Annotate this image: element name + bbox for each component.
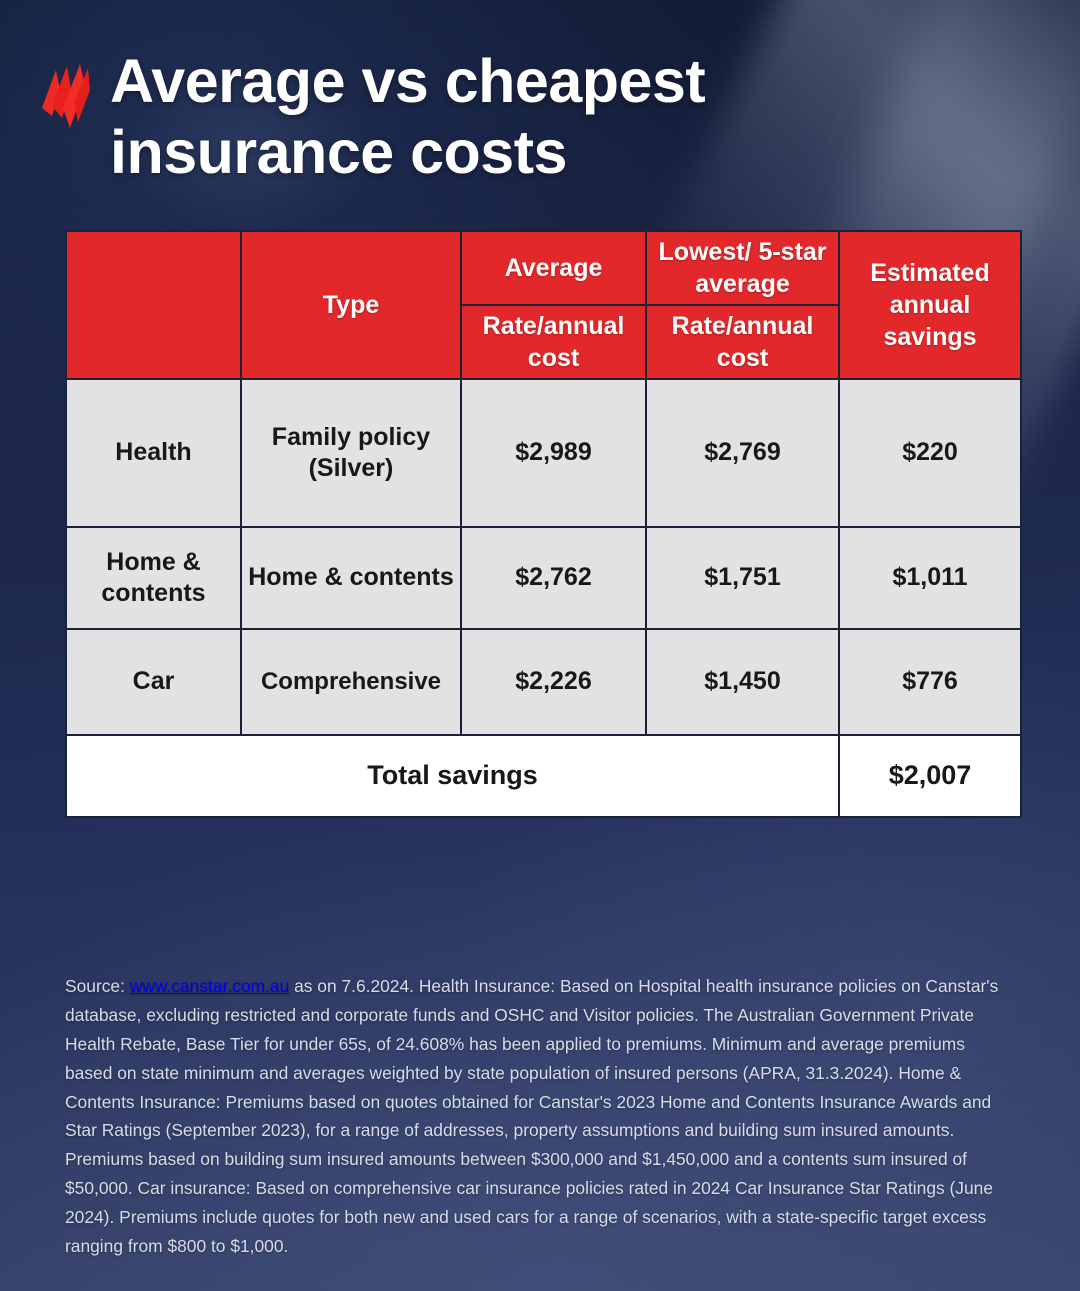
cell-savings: $220	[839, 379, 1021, 527]
header-rate-annual-cost-lowest: Rate/annual cost	[646, 305, 839, 379]
cell-savings: $1,011	[839, 527, 1021, 629]
table-row: Health Family policy (Silver) $2,989 $2,…	[66, 379, 1021, 527]
cell-type: Home & contents	[241, 527, 461, 629]
table-header-row-top: Type Average Lowest/ 5-star average Esti…	[66, 231, 1021, 305]
cell-savings: $776	[839, 629, 1021, 735]
infographic-page: Average vs cheapest insurance costs Type…	[0, 0, 1080, 1291]
source-body: as on 7.6.2024. Health Insurance: Based …	[65, 976, 998, 1256]
header-rate-annual-cost-average: Rate/annual cost	[461, 305, 646, 379]
cell-lowest-cost: $1,450	[646, 629, 839, 735]
header-average: Average	[461, 231, 646, 305]
cell-type: Comprehensive	[241, 629, 461, 735]
table-row: Home & contents Home & contents $2,762 $…	[66, 527, 1021, 629]
header-lowest-five-star-average: Lowest/ 5-star average	[646, 231, 839, 305]
cell-category: Car	[66, 629, 241, 735]
header-estimated-annual-savings: Estimated annual savings	[839, 231, 1021, 379]
table-row: Car Comprehensive $2,226 $1,450 $776	[66, 629, 1021, 735]
header-blank-corner	[66, 231, 241, 379]
sbs-flame-logo-icon	[36, 56, 96, 136]
cell-category: Home & contents	[66, 527, 241, 629]
source-note: Source: www.canstar.com.au as on 7.6.202…	[65, 972, 1015, 1261]
page-header: Average vs cheapest insurance costs	[36, 46, 1036, 189]
insurance-cost-table-wrapper: Type Average Lowest/ 5-star average Esti…	[65, 230, 1020, 818]
total-savings-label: Total savings	[66, 735, 839, 817]
table-header: Type Average Lowest/ 5-star average Esti…	[66, 231, 1021, 379]
cell-type: Family policy (Silver)	[241, 379, 461, 527]
table-body: Health Family policy (Silver) $2,989 $2,…	[66, 379, 1021, 817]
cell-lowest-cost: $2,769	[646, 379, 839, 527]
total-savings-value: $2,007	[839, 735, 1021, 817]
page-title: Average vs cheapest insurance costs	[110, 46, 990, 189]
cell-average-cost: $2,989	[461, 379, 646, 527]
cell-average-cost: $2,226	[461, 629, 646, 735]
source-prefix: Source:	[65, 976, 130, 996]
cell-average-cost: $2,762	[461, 527, 646, 629]
table-total-row: Total savings $2,007	[66, 735, 1021, 817]
source-url-link[interactable]: www.canstar.com.au	[130, 976, 289, 996]
cell-category: Health	[66, 379, 241, 527]
cell-lowest-cost: $1,751	[646, 527, 839, 629]
header-type: Type	[241, 231, 461, 379]
insurance-cost-table: Type Average Lowest/ 5-star average Esti…	[65, 230, 1022, 818]
